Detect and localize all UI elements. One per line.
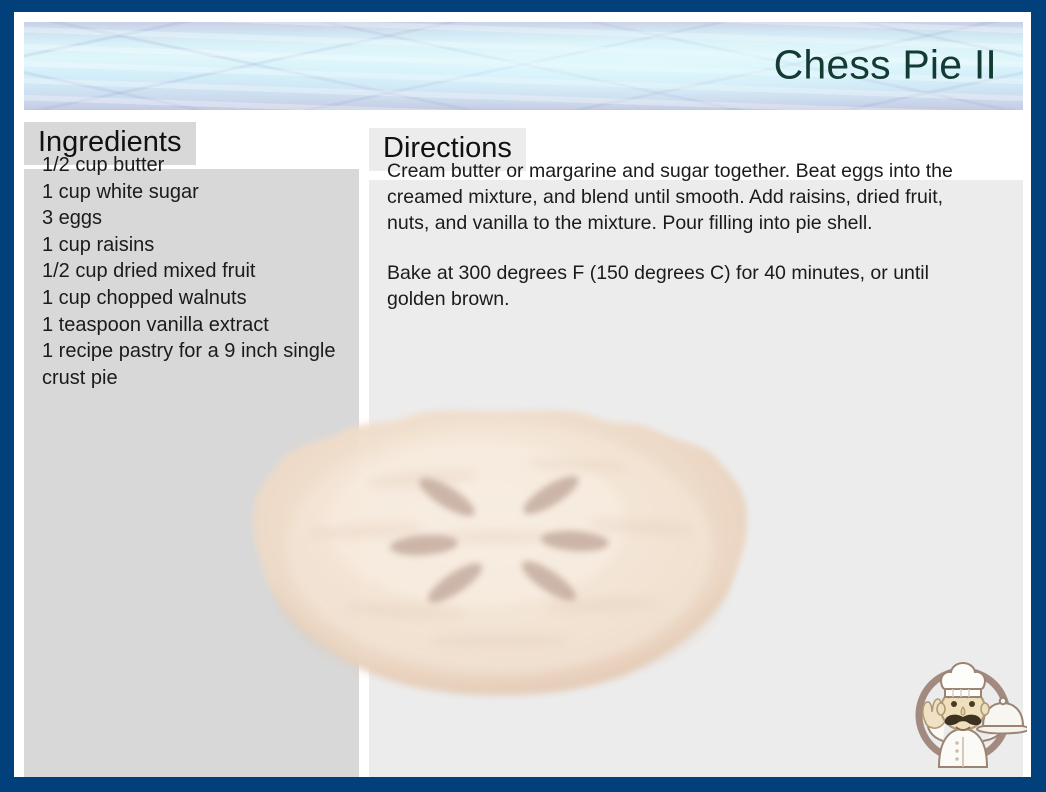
ingredients-list: 1/2 cup butter 1 cup white sugar 3 eggs … — [24, 122, 359, 391]
list-item: 1 teaspoon vanilla extract — [42, 312, 339, 339]
list-item: 1 recipe pastry for a 9 inch single crus… — [42, 338, 339, 391]
list-item: 1 cup white sugar — [42, 179, 339, 206]
directions-section: Directions Cream butter or margarine and… — [369, 128, 1023, 777]
title-banner: Chess Pie II — [24, 22, 1023, 110]
page-title: Chess Pie II — [774, 45, 997, 86]
recipe-card-inner: Chess Pie II Ingredients 1/2 cup butter … — [14, 12, 1031, 777]
list-item: 1/2 cup butter — [42, 152, 339, 179]
recipe-card: Chess Pie II Ingredients 1/2 cup butter … — [0, 0, 1046, 792]
list-item: 1/2 cup dried mixed fruit — [42, 258, 339, 285]
list-item: 1 cup chopped walnuts — [42, 285, 339, 312]
direction-paragraph: Bake at 300 degrees F (150 degrees C) fo… — [387, 260, 1003, 312]
list-item: 1 cup raisins — [42, 232, 339, 259]
direction-paragraph: Cream butter or margarine and sugar toge… — [387, 158, 1003, 236]
ingredients-section: Ingredients 1/2 cup butter 1 cup white s… — [24, 122, 359, 777]
directions-text: Cream butter or margarine and sugar toge… — [369, 128, 1023, 312]
list-item: 3 eggs — [42, 205, 339, 232]
